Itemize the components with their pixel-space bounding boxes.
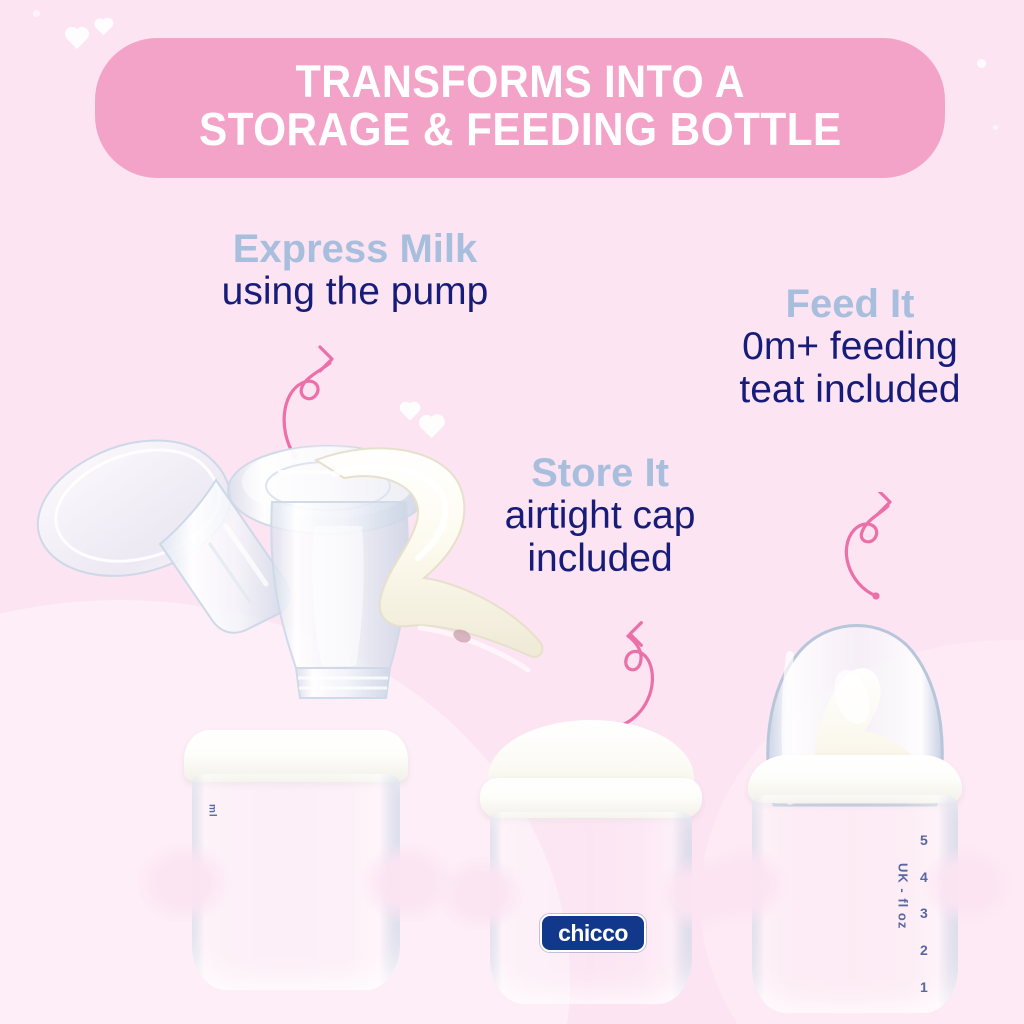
scale-number: 2: [920, 943, 928, 958]
header-banner: TRANSFORMS INTO A STORAGE & FEEDING BOTT…: [95, 38, 945, 178]
callout-body-feed-it-line-1: 0m+ feeding: [690, 326, 1010, 369]
scale-number: 4: [920, 870, 928, 885]
scale-number: 5: [920, 833, 928, 848]
product-infographic: TRANSFORMS INTO A STORAGE & FEEDING BOTT…: [0, 0, 1024, 1024]
banner-headline-line-2: STORAGE & FEEDING BOTTLE: [199, 105, 842, 153]
banner-headline-line-1: TRANSFORMS INTO A: [295, 58, 744, 105]
feeding-bottle-waist: [698, 845, 790, 925]
callout-feed-it: Feed It 0m+ feeding teat included: [690, 283, 1010, 412]
callout-body-express-milk-line-1: using the pump: [185, 271, 525, 314]
feeding-bottle-scale-numbers: 5 4 3 2 1: [920, 833, 928, 994]
product-feeding-bottle: UK - fl oz 5 4 3 2 1: [730, 605, 980, 1020]
callout-title-express-milk: Express Milk: [185, 228, 525, 271]
curly-arrow-icon: [828, 492, 908, 607]
callout-body-feed-it-line-2: teat included: [690, 369, 1010, 412]
scale-number: 1: [920, 980, 928, 995]
callout-title-feed-it: Feed It: [690, 283, 1010, 326]
curly-arrow-icon: [592, 620, 672, 735]
storage-bottle-waist: [436, 856, 526, 932]
sparkle-decor-icon: [993, 125, 998, 130]
callout-express-milk: Express Milk using the pump: [185, 228, 525, 314]
chicco-logo: chicco: [540, 914, 646, 952]
pump-bottle: ml: [170, 730, 422, 992]
pump-bottle-scale: ml: [206, 804, 217, 954]
scale-number: 3: [920, 906, 928, 921]
feeding-bottle-scale-unit: UK - fl oz: [896, 863, 910, 993]
heart-decor-icon: [67, 29, 87, 49]
product-storage-bottle: chicco: [466, 720, 716, 1020]
sparkle-decor-icon: [977, 59, 986, 68]
pump-bottle-waist: [136, 842, 232, 924]
sparkle-decor-icon: [33, 10, 40, 17]
heart-decor-icon: [96, 20, 112, 36]
feeding-bottle-waist: [922, 845, 1014, 925]
